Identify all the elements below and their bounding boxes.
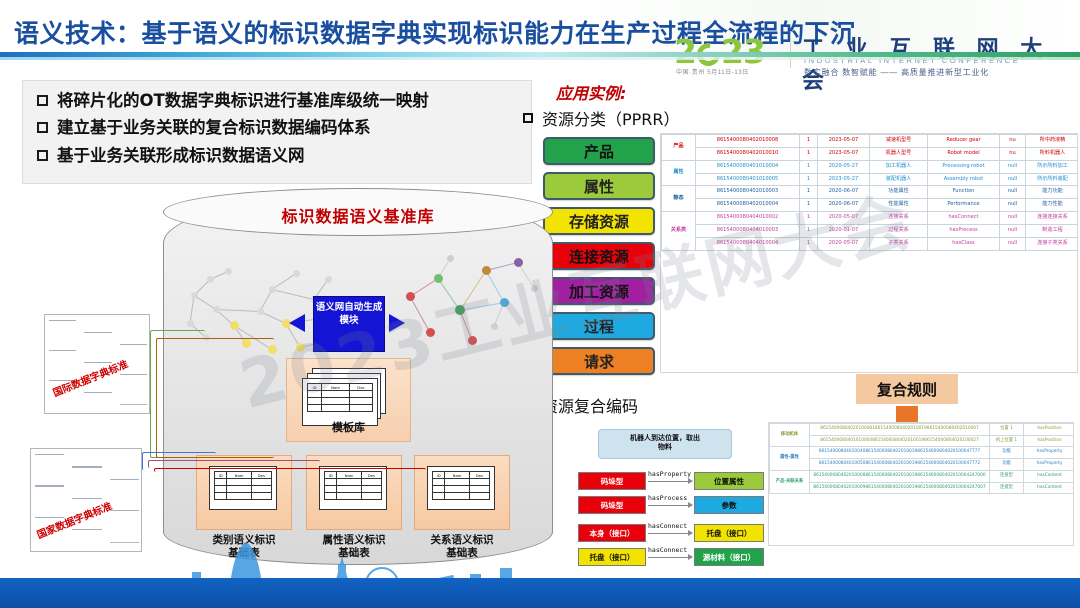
table-cell: 所示所料装配 (1026, 173, 1079, 186)
pprr-button-label: 存储资源 (569, 211, 629, 232)
mini-td (215, 479, 227, 486)
table-cell: 连接子类关系 (1026, 237, 1079, 250)
table-row: 861540008040101000512023-05-27装配机器人Assem… (662, 173, 1079, 186)
table-cell: 1 (800, 147, 818, 160)
resource-encoding-label: 资源复合编码 (542, 393, 638, 417)
graph-edge (460, 270, 487, 311)
table-cell: 8615400080402010008 (696, 135, 800, 148)
relation-arrow-icon (648, 481, 692, 482)
base-table-label-2: 关系语义标识基础表 (414, 534, 510, 560)
graph-node (257, 308, 264, 315)
table-cell: 1 (800, 199, 818, 212)
table-cell: 机上位置 1 (990, 435, 1024, 447)
resource-classification-label: 资源分类（PPRR） (542, 106, 680, 130)
mini-td (251, 479, 271, 486)
mini-td (325, 486, 337, 493)
mini-td (337, 479, 361, 486)
graph-edge (272, 289, 314, 300)
mini-td (361, 486, 381, 493)
doc-text-line (49, 350, 76, 351)
mini-td (445, 479, 469, 486)
table-cell: 8615400080402010008186154000804020100198… (810, 424, 990, 436)
base-mini-table: IDNamDes (214, 471, 272, 500)
table-cell: 机器人型号 (870, 147, 928, 160)
relation-object: 托盘（接口） (694, 524, 764, 542)
table-cell: 功能 (990, 447, 1024, 459)
base-mini-table: IDNamDes (324, 471, 382, 500)
table-row: 8615400080401005086154000804020100198615… (770, 459, 1075, 471)
semantic-generator-module: 语义网自动生成模块 (313, 296, 385, 352)
mini-td (227, 493, 251, 500)
semantic-graph-right (398, 248, 548, 353)
doc-text-line (84, 332, 111, 333)
doc-text-line (84, 392, 111, 393)
mini-td (445, 493, 469, 500)
mini-td (308, 398, 322, 405)
left-arrow-icon (289, 314, 305, 332)
relation-subject: 本身（接口） (578, 524, 646, 542)
relation-arrow-icon (648, 533, 692, 534)
doc-text-line (72, 466, 101, 467)
table-cell: 8615400080402010009861540008040201001986… (810, 482, 990, 494)
table-cell: 8615400080404010003 (696, 224, 800, 237)
bullet-text: 建立基于业务关联的复合标识数据编码体系 (57, 117, 371, 139)
mini-th: ID (308, 384, 322, 391)
table-cell: 8615400080401005086154000804020100198615… (810, 459, 990, 471)
bullet-square-icon (37, 122, 48, 133)
relation-object: 位置属性 (694, 472, 764, 490)
logo-tagline: 数实融合 数智赋能 —— 高质量推进新型工业化 (804, 67, 989, 78)
pprr-button-label: 过程 (584, 316, 614, 337)
header-rule-secondary (0, 57, 1080, 60)
base-table-sub: 基础表 (196, 547, 292, 560)
mini-th: Nam (227, 472, 251, 479)
table-cell: 能力功能 (1026, 186, 1079, 199)
bullet-panel: 将碎片化的OT数据字典标识进行基准库级统一映射 建立基于业务关联的复合标识数据编… (22, 80, 532, 184)
table-row: 产品861540008040201000812023-05-07减速机型号Red… (662, 135, 1079, 148)
table-cell: hasContent (1024, 482, 1075, 494)
mini-th: ID (215, 472, 227, 479)
mini-td (337, 493, 361, 500)
resource-classification-heading: 资源分类（PPRR） (523, 106, 680, 130)
mini-td (215, 493, 227, 500)
table-group-label: 属性 (662, 160, 696, 186)
table-cell: 功能 (990, 459, 1024, 471)
doc-text-line (110, 542, 139, 543)
table-cell: 1 (800, 160, 818, 173)
doc-text-line (72, 529, 101, 530)
table-cell: Robot model (928, 147, 1000, 160)
base-mini-table: IDNamDes (432, 471, 490, 500)
mini-td (469, 479, 489, 486)
table-cell: 性能属性 (870, 199, 928, 212)
table-cell: 8615400080402010003 (696, 186, 800, 199)
base-table-sheet-0: IDNamDes (209, 466, 277, 510)
graph-node (447, 255, 454, 262)
graph-node (207, 276, 214, 283)
table-cell: null (1000, 186, 1026, 199)
base-table-sub: 基础表 (306, 547, 402, 560)
table-cell: 8615400080401004086154000804020100198615… (810, 447, 990, 459)
doc-text-line (120, 344, 147, 345)
base-table-name: 类别语义标识 (196, 534, 292, 547)
mini-th: ID (433, 472, 445, 479)
relation-object: 参数 (694, 496, 764, 514)
table-cell: Performance (928, 199, 1000, 212)
table-cell: hasPosition (1024, 435, 1075, 447)
mini-td (251, 493, 271, 500)
base-table-name: 关系语义标识 (414, 534, 510, 547)
resource-table-panel: 产品861540008040201000812023-05-07减速机型号Red… (660, 133, 1078, 373)
mini-td (322, 391, 350, 398)
table-cell: 制造工程 (1026, 224, 1079, 237)
pprr-button-label: 请求 (584, 351, 614, 372)
mini-th: ID (325, 472, 337, 479)
table-cell: Processing robot (928, 160, 1000, 173)
table-cell: 2023-05-07 (818, 135, 870, 148)
mini-td (325, 493, 337, 500)
pprr-button-5[interactable]: 过程 (543, 312, 655, 340)
template-mini-table: IDNamDes (307, 383, 373, 412)
slide-root: 语义技术：基于语义的标识数据字典实现标识能力在生产过程全流程的下沉 223 中国… (0, 0, 1080, 608)
table-cell: 减速机型号 (870, 135, 928, 148)
table-row: 861540008040201001012023-05-07机器人型号Robot… (662, 147, 1079, 160)
table-cell: 1 (800, 186, 818, 199)
rules-group-label: 产品·关联关系 (770, 470, 810, 493)
connector-red (154, 468, 426, 472)
relation-subject: 托盘（接口） (578, 548, 646, 566)
table-row: 移动机体861540008040201000818615400080402010… (770, 424, 1075, 436)
table-cell: 8615400080401010004861540008040201001986… (810, 435, 990, 447)
table-group-label: 静态 (662, 186, 696, 212)
mini-th: Des (349, 384, 372, 391)
connector-purple (148, 460, 320, 468)
mini-td (322, 398, 350, 405)
table-cell: hasProperty (1024, 459, 1075, 471)
bullet-square-icon (523, 113, 533, 123)
table-cell: Assembly robot (928, 173, 1000, 186)
table-cell: 2020-06-07 (818, 186, 870, 199)
graph-node (482, 266, 491, 275)
mini-td (227, 479, 251, 486)
relation-scenario-line2: 物料 (599, 443, 731, 452)
base-table-sub: 基础表 (414, 547, 510, 560)
table-cell: 子类关系 (870, 237, 928, 250)
relation-scenario-box: 机器人到达位置，取出 物料 (598, 429, 732, 459)
graph-node (325, 276, 332, 283)
table-cell: 位置 1 (990, 424, 1024, 436)
bullet-square-icon (37, 95, 48, 106)
mini-td (337, 486, 361, 493)
table-cell: Reducer gear (928, 135, 1000, 148)
table-cell: 所示所料加工 (1026, 160, 1079, 173)
graph-node (187, 320, 194, 327)
pprr-button-label: 连接资源 (569, 246, 629, 267)
table-cell: hasProperty (1024, 447, 1075, 459)
table-cell: null (1000, 237, 1026, 250)
table-row: 861540008040201000412020-06-07性能属性Perfor… (662, 199, 1079, 212)
graph-edge (410, 296, 431, 332)
logo-date: 中国·贵州 5月11日-13日 (676, 67, 749, 76)
table-cell: 1 (800, 135, 818, 148)
table-cell: 加工机器人 (870, 160, 928, 173)
composite-rules-title: 复合规则 (856, 374, 958, 404)
graph-node (426, 328, 435, 337)
base-table-label-1: 属性语义标识基础表 (306, 534, 402, 560)
bullet-item: 基于业务关联形成标识数据语义网 (37, 145, 521, 167)
graph-node (191, 292, 198, 299)
graph-edge (216, 309, 260, 312)
table-row: 861540008040401000312020-01-07过程关系hasPro… (662, 224, 1079, 237)
table-cell: hasConnect (928, 212, 1000, 225)
graph-node (406, 292, 415, 301)
graph-node (455, 305, 465, 315)
mini-th: Nam (337, 472, 361, 479)
mini-td (469, 493, 489, 500)
relation-subject: 码垛型 (578, 472, 646, 490)
cylinder-title: 标识数据语义基准库 (163, 203, 553, 227)
table-row: 属性·属性86154000804010040861540008040201001… (770, 447, 1075, 459)
table-cell: 1 (800, 212, 818, 225)
graph-node (500, 298, 509, 307)
mini-td (322, 405, 350, 412)
relation-row-0: 码垛型hasProperty位置属性 (578, 472, 764, 492)
mini-th: Des (361, 472, 381, 479)
table-cell: hasProcess (928, 224, 1000, 237)
mini-th: Nam (445, 472, 469, 479)
doc-text-line (35, 485, 64, 486)
mini-td (349, 398, 372, 405)
mini-td (227, 486, 251, 493)
pprr-button-2[interactable]: 存储资源 (543, 207, 655, 235)
table-cell: null (1000, 199, 1026, 212)
mini-td (433, 493, 445, 500)
relation-predicate: hasProperty (648, 470, 691, 478)
bullet-square-icon (37, 150, 48, 161)
table-cell: null (1000, 173, 1026, 186)
doc-text-line (72, 498, 101, 499)
pprr-button-4[interactable]: 加工资源 (543, 277, 655, 305)
table-row: 861540008040401000412020-05-07子类关系hasCla… (662, 237, 1079, 250)
resource-table: 产品861540008040201000812023-05-07减速机型号Red… (661, 134, 1078, 251)
doc-text-line (110, 479, 139, 480)
table-cell: 2020-05-27 (818, 160, 870, 173)
relation-object: 源材料（接口） (694, 548, 764, 566)
relation-arrow-icon (648, 557, 692, 558)
relation-row-1: 码垛型hasProcess参数 (578, 496, 764, 516)
bullet-text: 基于业务关联形成标识数据语义网 (57, 145, 305, 167)
table-cell: 连接型 (990, 482, 1024, 494)
mini-td (308, 405, 322, 412)
bullet-text: 将碎片化的OT数据字典标识进行基准库级统一映射 (57, 90, 429, 112)
table-cell: 1 (800, 173, 818, 186)
graph-node (230, 321, 239, 330)
composite-rules-table: 移动机体861540008040201000818615400080402010… (769, 423, 1074, 494)
table-cell: 功能属性 (870, 186, 928, 199)
base-table-label-0: 类别语义标识基础表 (196, 534, 292, 560)
table-cell: 2023-05-07 (818, 147, 870, 160)
table-cell: 装配机器人 (870, 173, 928, 186)
mini-th: Des (469, 472, 489, 479)
doc-text-line (35, 454, 64, 455)
relation-predicate: hasConnect (648, 546, 687, 554)
table-cell: nu (1000, 135, 1026, 148)
table-row: 产品·关联关系861540008040201000886154000804020… (770, 470, 1075, 482)
table-cell: hasClass (928, 237, 1000, 250)
pprr-button-label: 产品 (584, 141, 614, 162)
table-cell: 2020-01-07 (818, 224, 870, 237)
table-cell: 8615400080401010005 (696, 173, 800, 186)
relation-subject: 码垛型 (578, 496, 646, 514)
base-table-sheet-1: IDNamDes (319, 466, 387, 510)
table-row: 8615400080402010009861540008040201001986… (770, 482, 1075, 494)
mini-td (433, 486, 445, 493)
mini-td (361, 493, 381, 500)
mini-th: Des (251, 472, 271, 479)
table-cell: 1 (800, 224, 818, 237)
table-cell: 2020-05-07 (818, 237, 870, 250)
mini-td (349, 405, 372, 412)
table-cell: nu (1000, 147, 1026, 160)
pprr-button-list: 产品属性存储资源连接资源加工资源过程请求 (543, 137, 655, 382)
semantic-generator-label: 语义网自动生成模块 (316, 302, 383, 326)
graph-node (269, 286, 276, 293)
relation-row-3: 托盘（接口）hasConnect源材料（接口） (578, 548, 764, 568)
pprr-button-3[interactable]: 连接资源 (543, 242, 655, 270)
mini-td (325, 479, 337, 486)
graph-node (531, 285, 538, 292)
pprr-button-1[interactable]: 属性 (543, 172, 655, 200)
doc-text-line (120, 404, 147, 405)
graph-node (293, 270, 300, 277)
bullet-item: 建立基于业务关联的复合标识数据编码体系 (37, 117, 521, 139)
table-cell: 8615400080402010008861540008040201001986… (810, 470, 990, 482)
table-row: 属性861540008040101000412020-05-27加工机器人Pro… (662, 160, 1079, 173)
relation-row-2: 本身（接口）hasConnect托盘（接口） (578, 524, 764, 544)
table-group-label: 产品 (662, 135, 696, 161)
mini-th: Nam (322, 384, 350, 391)
table-row: 8615400080401010004861540008040201001986… (770, 435, 1075, 447)
table-cell: 8615400080402010004 (696, 199, 800, 212)
template-library-label: 模板库 (286, 419, 411, 435)
graph-node (514, 258, 523, 267)
base-table-name: 属性语义标识 (306, 534, 402, 547)
mini-td (469, 486, 489, 493)
pprr-button-6[interactable]: 请求 (543, 347, 655, 375)
mini-td (251, 486, 271, 493)
table-group-label: 关系类 (662, 212, 696, 251)
graph-node (434, 274, 443, 283)
pprr-button-0[interactable]: 产品 (543, 137, 655, 165)
table-cell: 2020-05-07 (818, 212, 870, 225)
mini-td (445, 486, 469, 493)
rules-group-label: 移动机体 (770, 424, 810, 447)
table-cell: 1 (800, 237, 818, 250)
table-cell: null (1000, 212, 1026, 225)
table-cell: 能力性能 (1026, 199, 1079, 212)
table-row: 关系类861540008040401000212020-05-07连接关系has… (662, 212, 1079, 225)
graph-node (491, 323, 498, 330)
mini-td (361, 479, 381, 486)
table-row: 静态861540008040201000312020-06-07功能属性Func… (662, 186, 1079, 199)
table-cell: 连接连接关系 (1026, 212, 1079, 225)
graph-node (296, 343, 305, 352)
table-cell: 2020-06-07 (818, 199, 870, 212)
table-cell: 过程关系 (870, 224, 928, 237)
table-cell: null (1000, 224, 1026, 237)
table-cell: Function (928, 186, 1000, 199)
right-arrow-icon (389, 314, 405, 332)
international-dictionary-doc (44, 314, 150, 414)
mini-td (433, 479, 445, 486)
mini-td (308, 391, 322, 398)
table-cell: 连接关系 (870, 212, 928, 225)
pprr-button-label: 属性 (584, 176, 614, 197)
footer-band (0, 578, 1080, 608)
connector-orange (156, 338, 274, 458)
bullet-item: 将碎片化的OT数据字典标识进行基准库级统一映射 (37, 90, 521, 112)
relation-predicate: hasProcess (648, 494, 687, 502)
table-cell: hasPosition (1024, 424, 1075, 436)
table-cell: 所中药液精 (1026, 135, 1079, 148)
relation-predicate: hasConnect (648, 522, 687, 530)
table-cell: null (1000, 160, 1026, 173)
graph-edge (460, 302, 504, 311)
base-table-sheet-2: IDNamDes (427, 466, 495, 510)
composite-rules-panel: 移动机体861540008040201000818615400080402010… (768, 422, 1074, 546)
doc-text-line (120, 374, 147, 375)
application-example-title: 应用实例: (556, 80, 626, 104)
table-cell: 8615400080404010004 (696, 237, 800, 250)
relation-arrow-icon (648, 505, 692, 506)
table-cell: 连接型 (990, 470, 1024, 482)
table-cell: hasContent (1024, 470, 1075, 482)
table-cell: 所料机器人 (1026, 147, 1079, 160)
table-cell: 8615400080402010010 (696, 147, 800, 160)
pprr-button-label: 加工资源 (569, 281, 629, 302)
rules-group-label: 属性·属性 (770, 447, 810, 470)
table-cell: 8615400080401010004 (696, 160, 800, 173)
table-cell: 2023-05-27 (818, 173, 870, 186)
table-cell: 8615400080404010002 (696, 212, 800, 225)
graph-node (213, 306, 220, 313)
graph-node (468, 336, 477, 345)
mini-td (215, 486, 227, 493)
mini-td (349, 391, 372, 398)
graph-node (225, 268, 232, 275)
doc-text-line (49, 320, 76, 321)
logo-divider (790, 34, 791, 68)
